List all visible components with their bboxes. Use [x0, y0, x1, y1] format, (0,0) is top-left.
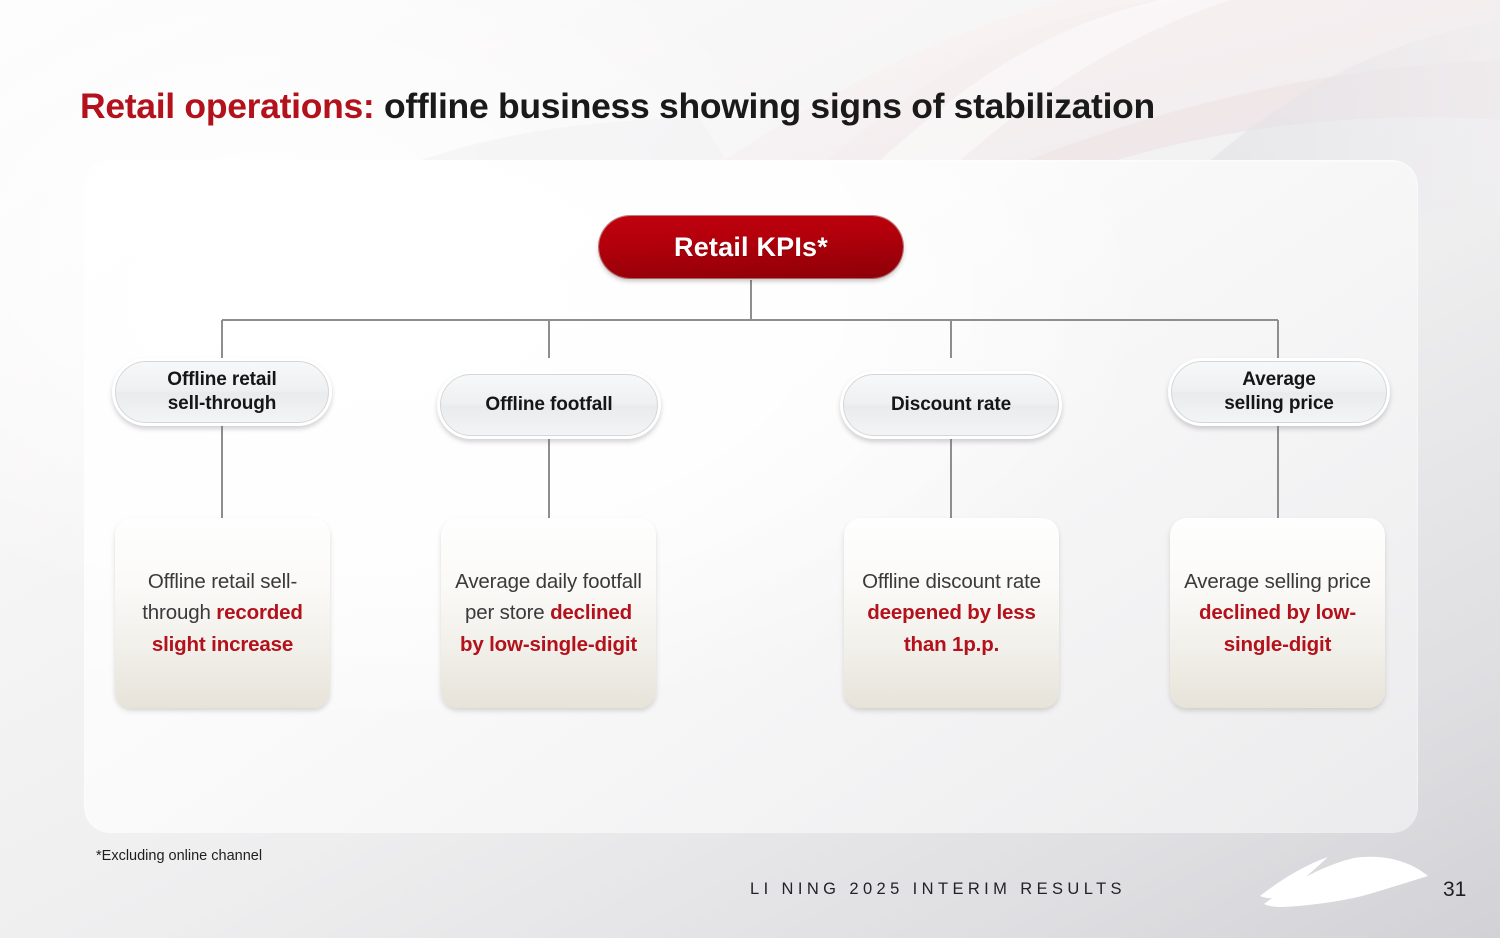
- pill-label: Average selling price: [1224, 368, 1334, 417]
- page-title: Retail operations: offline business show…: [80, 86, 1155, 127]
- card-text: Average daily footfall per store decline…: [451, 566, 646, 659]
- card-discount-rate[interactable]: Offline discount rate deepened by less t…: [844, 518, 1059, 708]
- footer-title: LI NING 2025 INTERIM RESULTS: [750, 880, 1126, 899]
- node-retail-kpis[interactable]: Retail KPIs*: [599, 216, 903, 278]
- card-text-plain: Average selling price: [1184, 570, 1371, 593]
- pill-inner: Average selling price: [1171, 361, 1387, 423]
- slide: Retail operations: offline business show…: [0, 0, 1500, 938]
- pill-inner: Offline footfall: [440, 374, 658, 436]
- pill-label: Offline footfall: [485, 393, 612, 417]
- node-retail-kpis-label: Retail KPIs*: [674, 232, 828, 263]
- card-text-highlight: declined by low-single-digit: [1199, 601, 1356, 655]
- pill-offline-retail-sell-through[interactable]: Offline retail sell-through: [112, 358, 332, 426]
- card-text: Average selling price declined by low-si…: [1180, 566, 1375, 659]
- pill-label: Offline retail sell-through: [167, 368, 276, 417]
- page-number: 31: [1443, 878, 1466, 902]
- pill-inner: Offline retail sell-through: [115, 361, 329, 423]
- pill-discount-rate[interactable]: Discount rate: [840, 371, 1062, 439]
- card-text-plain: Offline discount rate: [862, 570, 1041, 593]
- title-accent: Retail operations:: [80, 86, 374, 126]
- card-offline-footfall[interactable]: Average daily footfall per store decline…: [441, 518, 656, 708]
- pill-inner: Discount rate: [843, 374, 1059, 436]
- card-offline-retail-sell-through[interactable]: Offline retail sell-through recorded sli…: [115, 518, 330, 708]
- pill-label: Discount rate: [891, 393, 1011, 417]
- card-text: Offline retail sell-through recorded sli…: [125, 566, 320, 659]
- pill-average-selling-price[interactable]: Average selling price: [1168, 358, 1390, 426]
- card-average-selling-price[interactable]: Average selling price declined by low-si…: [1170, 518, 1385, 708]
- card-text-highlight: deepened by less than 1p.p.: [867, 601, 1036, 655]
- footnote: *Excluding online channel: [96, 848, 262, 864]
- card-text: Offline discount rate deepened by less t…: [854, 566, 1049, 659]
- li-ning-logo-icon: [1258, 852, 1430, 914]
- pill-offline-footfall[interactable]: Offline footfall: [437, 371, 661, 439]
- title-rest: offline business showing signs of stabil…: [374, 86, 1154, 126]
